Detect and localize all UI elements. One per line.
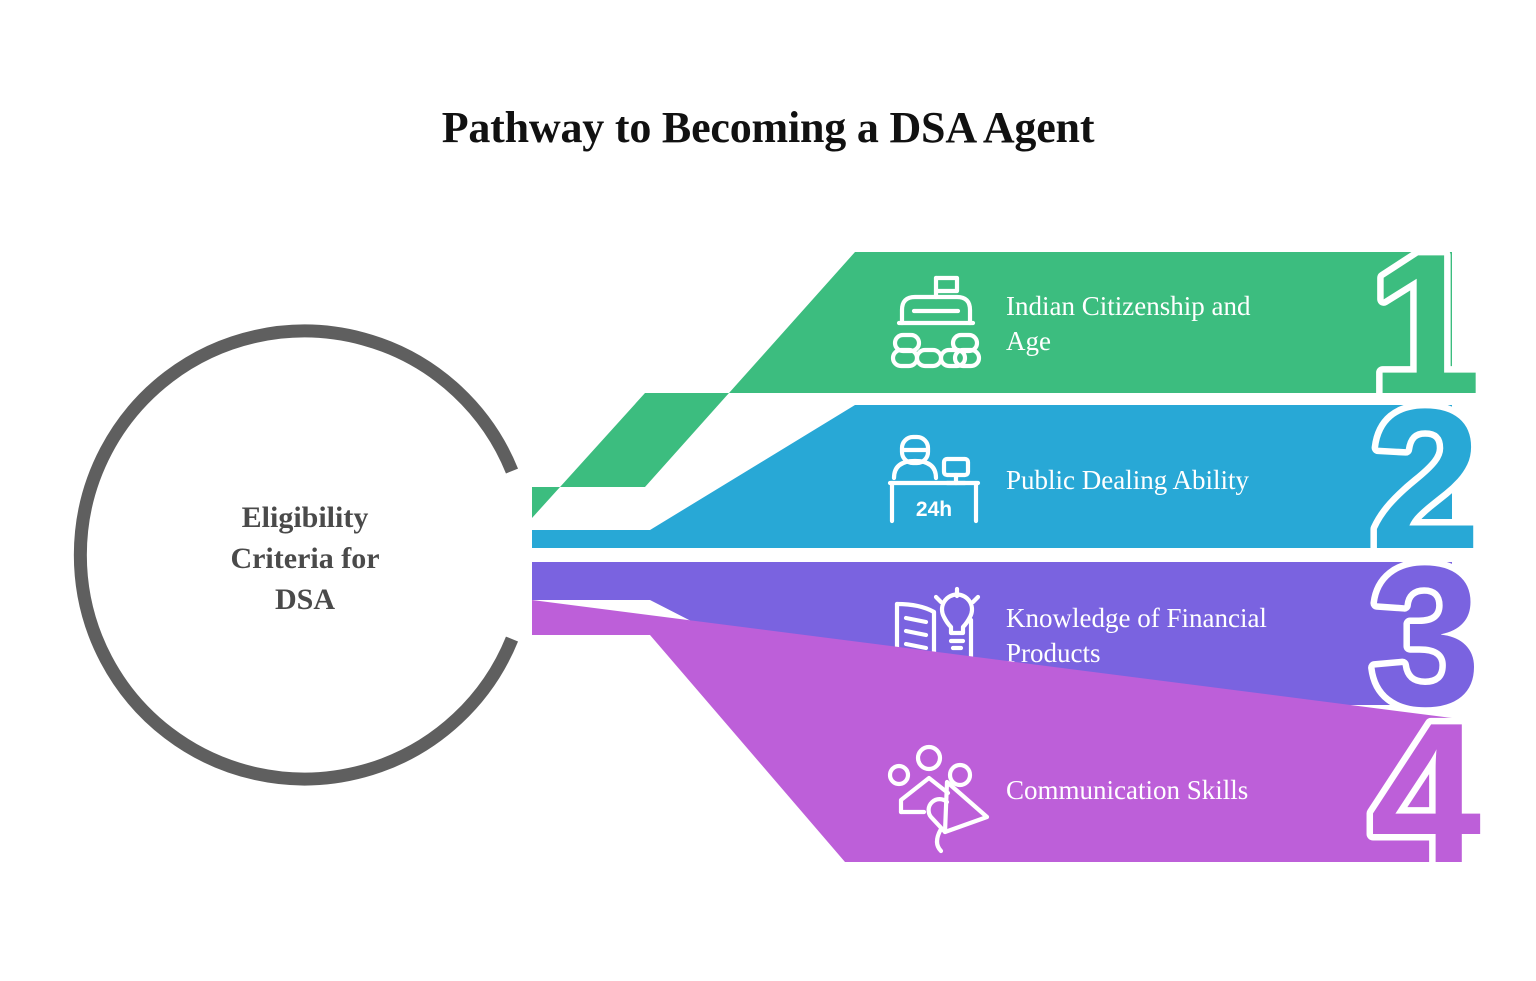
band-2-label-line-1: Public Dealing Ability xyxy=(1006,465,1249,495)
band-2-icon-caption: 24h xyxy=(916,498,952,521)
pathway-infographic: Pathway to Becoming a DSA Agent xyxy=(0,0,1536,981)
hub-line-2: Criteria for xyxy=(230,542,379,575)
hub-line-3: DSA xyxy=(275,583,335,616)
band-4-number: 4 xyxy=(1370,682,1481,905)
infographic-canvas: Pathway to Becoming a DSA Agent xyxy=(0,0,1536,981)
band-3-label-line-1: Knowledge of Financial xyxy=(1006,603,1267,633)
band-1-label-line-2: Age xyxy=(1006,326,1051,356)
hub-line-1: Eligibility xyxy=(242,501,369,534)
hub-circle[interactable]: Eligibility Criteria for DSA xyxy=(80,331,529,779)
page-title: Pathway to Becoming a DSA Agent xyxy=(442,103,1095,152)
band-1-label-line-1: Indian Citizenship and xyxy=(1006,291,1251,321)
band-4-label-line-1: Communication Skills xyxy=(1006,775,1248,805)
